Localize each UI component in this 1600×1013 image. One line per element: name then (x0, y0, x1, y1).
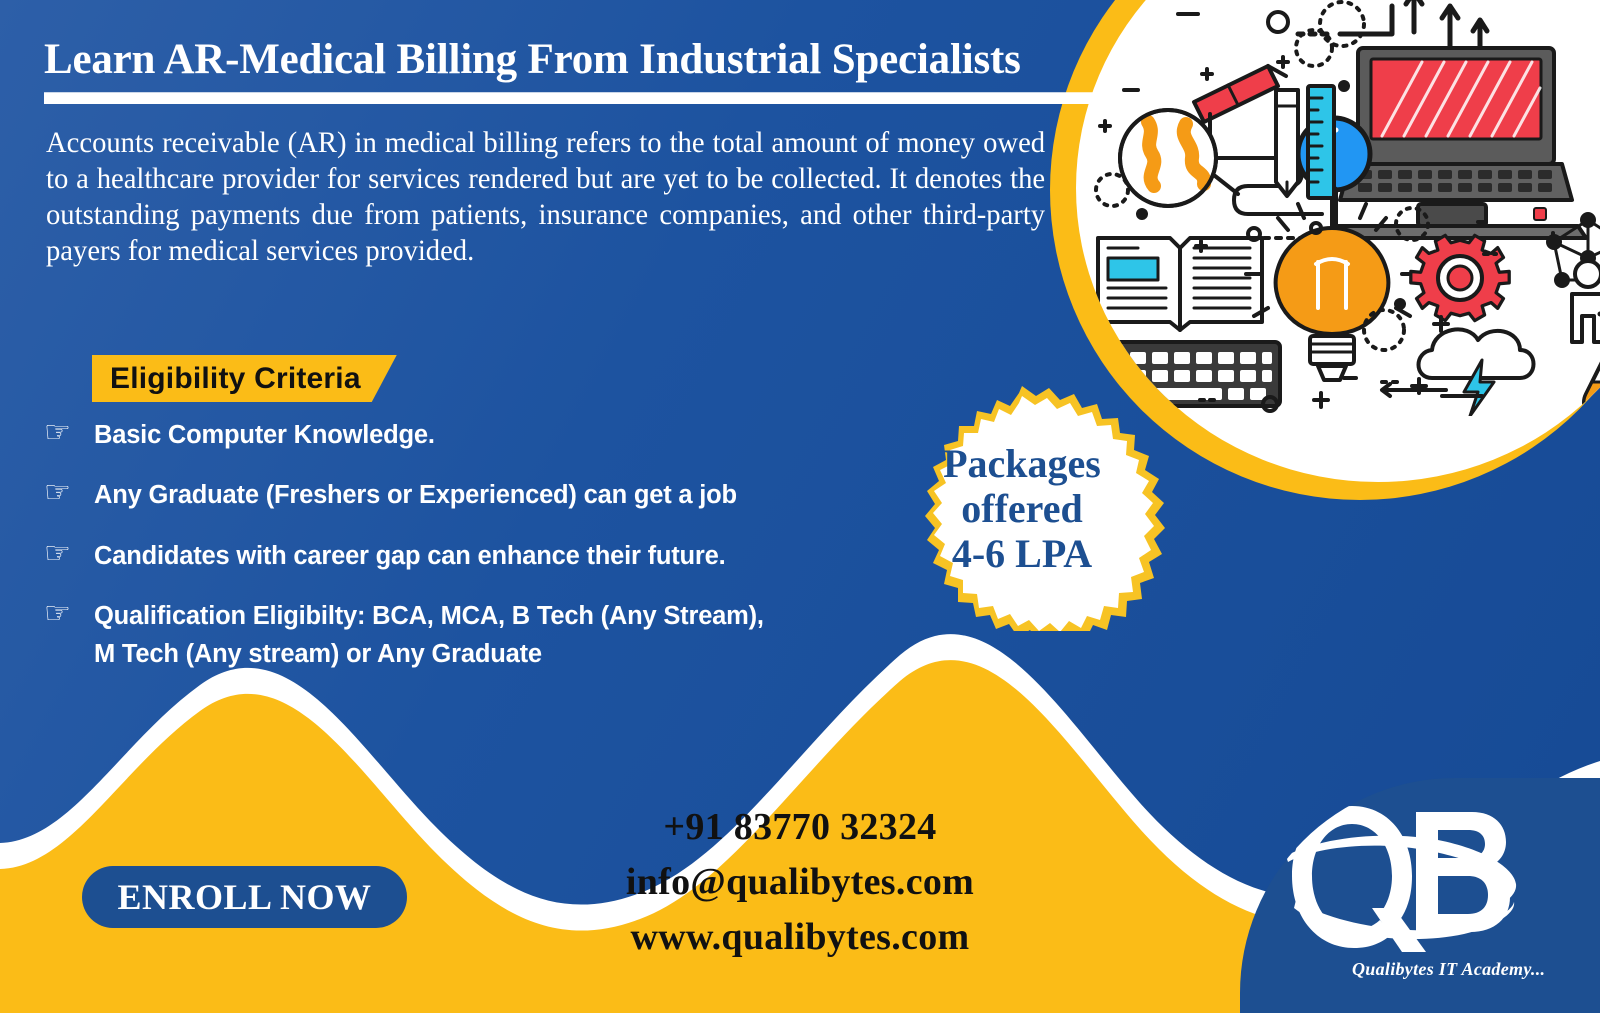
education-technology-collage (1082, 0, 1600, 416)
packages-badge: Packages offered 4-6 LPA (852, 386, 1192, 631)
logo-tagline: Qualibytes IT Academy... (1352, 959, 1545, 980)
list-item: ☞ Any Graduate (Freshers or Experienced)… (44, 476, 874, 514)
list-item-label-line2: M Tech (Any stream) or Any Graduate (94, 635, 764, 673)
qualibytes-qb-logo-icon (1276, 796, 1526, 961)
eligibility-criteria-label: Eligibility Criteria (110, 362, 361, 396)
list-item: ☞ Candidates with career gap can enhance… (44, 537, 874, 575)
pointing-hand-icon: ☞ (44, 476, 94, 510)
eligibility-list: ☞ Basic Computer Knowledge. ☞ Any Gradua… (44, 416, 874, 695)
list-item: ☞ Qualification Eligibilty: BCA, MCA, B … (44, 597, 874, 674)
page-title-block: Learn AR-Medical Billing From Industrial… (44, 36, 1119, 104)
list-item-label-line1: Qualification Eligibilty: BCA, MCA, B Te… (94, 602, 764, 630)
description-paragraph: Accounts receivable (AR) in medical bill… (46, 126, 1045, 270)
page-title: Learn AR-Medical Billing From Industrial… (44, 36, 1119, 83)
pointing-hand-icon: ☞ (44, 537, 94, 571)
list-item-label: Basic Computer Knowledge. (94, 416, 435, 454)
contact-phone[interactable]: +91 83770 32324 (470, 800, 1130, 855)
pointing-hand-icon: ☞ (44, 416, 94, 450)
eligibility-criteria-ribbon: Eligibility Criteria (92, 355, 397, 402)
logo-corner: Qualibytes IT Academy... (1240, 778, 1600, 1013)
list-item-label: Qualification Eligibilty: BCA, MCA, B Te… (94, 597, 764, 674)
list-item-label: Candidates with career gap can enhance t… (94, 537, 726, 575)
title-underline-bar (44, 92, 1108, 104)
list-item: ☞ Basic Computer Knowledge. (44, 416, 874, 454)
contact-block: +91 83770 32324 info@qualibytes.com www.… (470, 800, 1130, 965)
contact-website[interactable]: www.qualibytes.com (470, 910, 1130, 965)
pointing-hand-icon: ☞ (44, 597, 94, 631)
contact-email[interactable]: info@qualibytes.com (470, 855, 1130, 910)
starburst-shape (852, 386, 1192, 631)
enroll-now-button[interactable]: ENROLL NOW (82, 866, 407, 928)
list-item-label: Any Graduate (Freshers or Experienced) c… (94, 476, 737, 514)
flyer-canvas: Learn AR-Medical Billing From Industrial… (0, 0, 1600, 1013)
